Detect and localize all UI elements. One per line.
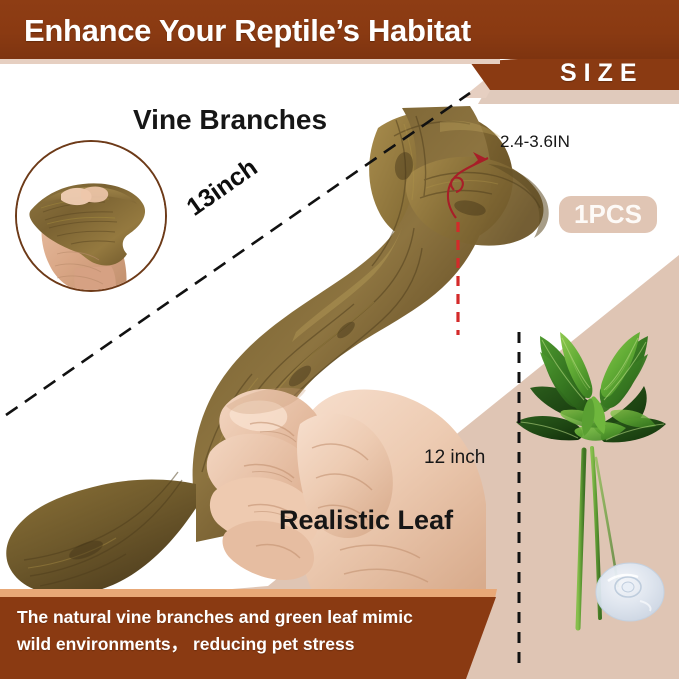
product-infographic: Enhance Your Reptile’s Habitat SIZE Vine… (0, 0, 679, 679)
footer-line-2: wild environments， reducing pet stress (17, 631, 487, 658)
leaf-length-label: 12 inch (424, 447, 485, 469)
quantity-badge-label: 1PCS (574, 199, 642, 230)
page-title: Enhance Your Reptile’s Habitat (24, 13, 471, 49)
suction-cup-icon (594, 561, 666, 623)
footer-description: The natural vine branches and green leaf… (17, 604, 487, 657)
footer-line-1: The natural vine branches and green leaf… (17, 604, 487, 631)
inset-hand-holding-branch (15, 140, 167, 292)
red-curved-arrow-icon (448, 158, 488, 218)
realistic-leaf-heading: Realistic Leaf (279, 505, 453, 536)
black-dashed-vertical-line-icon (510, 330, 530, 670)
footer-banner-strip (0, 589, 500, 598)
hand-holding-branch-icon (17, 142, 167, 292)
vine-branches-heading: Vine Branches (133, 104, 327, 136)
branch-diameter-label: 2.4-3.6IN (500, 132, 570, 152)
quantity-badge: 1PCS (559, 196, 657, 233)
red-dashed-measure-line-icon (430, 140, 510, 350)
